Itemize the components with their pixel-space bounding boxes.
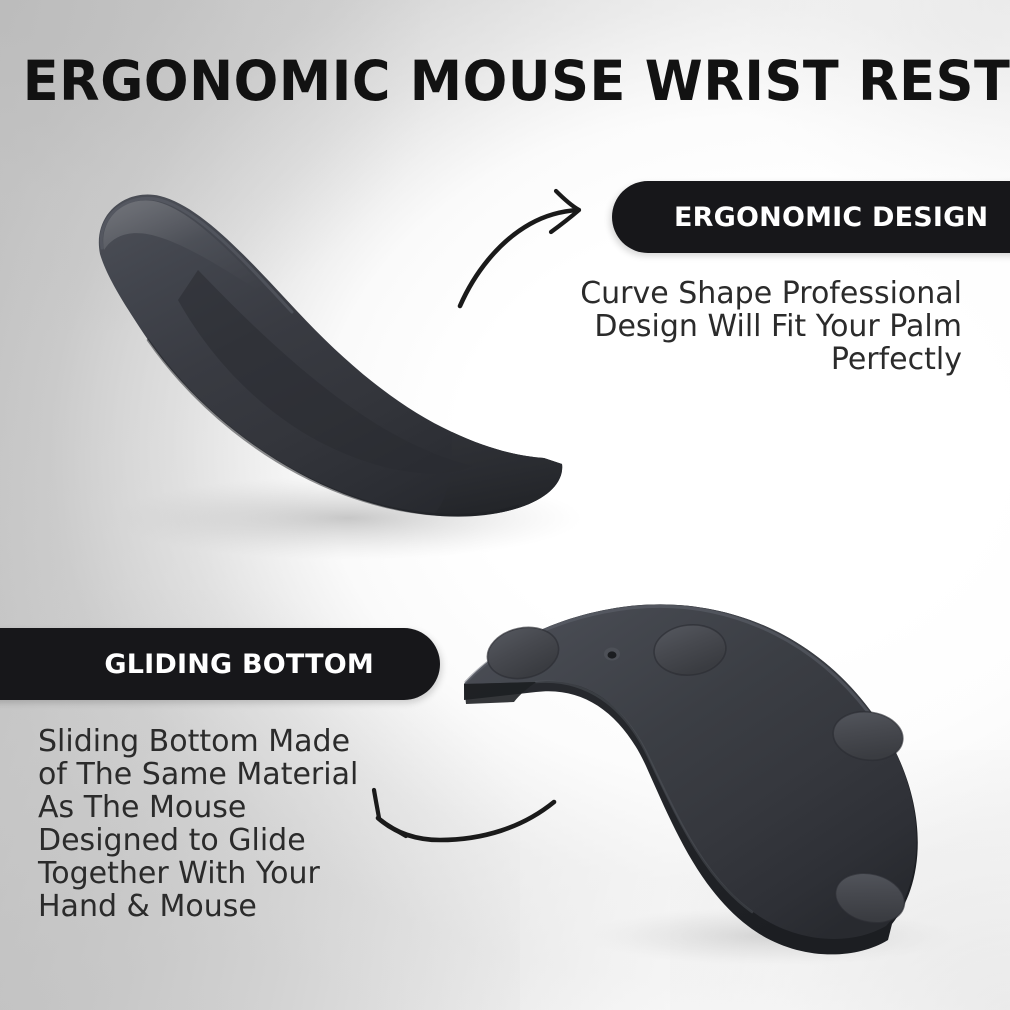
badge-ergonomic-design: ERGONOMIC DESIGN	[612, 181, 1010, 253]
badge-gliding-bottom: GLIDING BOTTOM	[0, 628, 440, 700]
badge-gliding-bottom-label: GLIDING BOTTOM	[104, 649, 374, 680]
description-ergonomic-design: Curve Shape Professional Design Will Fit…	[532, 277, 962, 376]
badge-ergonomic-design-label: ERGONOMIC DESIGN	[674, 202, 988, 233]
product-infographic: ERGONOMIC MOUSE WRIST REST	[0, 0, 1010, 1010]
curved-arrow-left-icon	[362, 778, 562, 858]
page-title: ERGONOMIC MOUSE WRIST REST	[23, 51, 988, 111]
vent-hole	[604, 648, 620, 661]
description-gliding-bottom: Sliding Bottom Made of The Same Material…	[38, 725, 378, 923]
